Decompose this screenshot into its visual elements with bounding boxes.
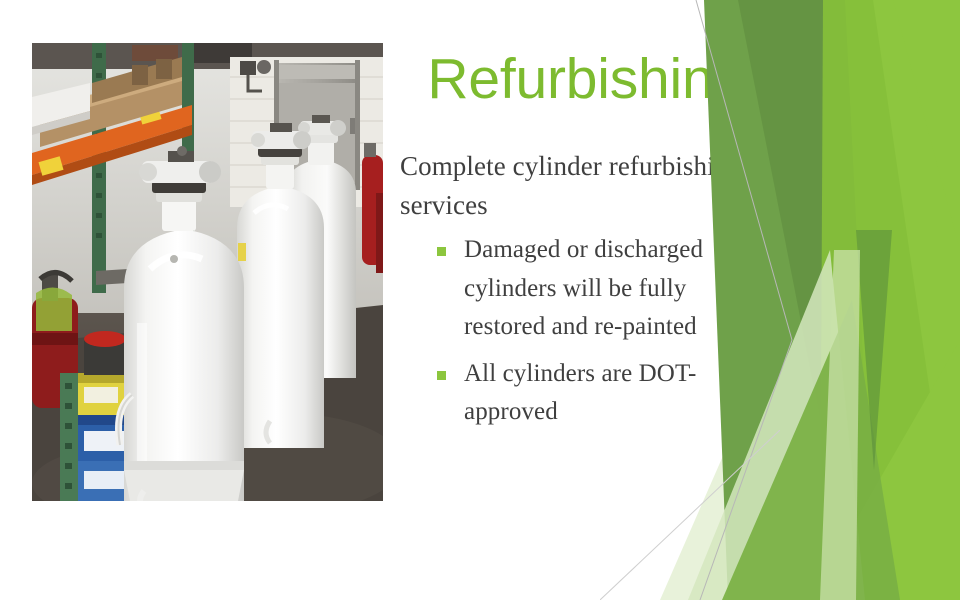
bright-top-right — [893, 0, 960, 250]
photo-artwork — [32, 43, 383, 501]
body-level1-line: Complete cylinder refurbishing services — [400, 147, 760, 225]
bright-green-wedge — [820, 0, 960, 600]
slide-body: Complete cylinder refurbishing services … — [400, 147, 760, 440]
pale-highlight-sliver — [820, 250, 860, 600]
dark-sliver — [856, 230, 892, 470]
bright-green-band — [845, 0, 960, 600]
cylinder-photo — [32, 43, 383, 501]
square-bullet-icon — [437, 247, 446, 256]
hairline-extension — [600, 430, 780, 600]
body-level2-list: Damaged or discharged cylinders will be … — [400, 231, 760, 432]
list-item-label: All cylinders are DOT-approved — [464, 360, 696, 426]
list-item: Damaged or discharged cylinders will be … — [428, 231, 760, 347]
list-item-label: Damaged or discharged cylinders will be … — [464, 236, 703, 340]
slide-title: Refurbishing — [400, 47, 745, 111]
slide: Refurbishing Complete cylinder refurbish… — [0, 0, 960, 600]
list-item: All cylinders are DOT-approved — [428, 355, 760, 432]
dark-green-triangle — [738, 0, 895, 470]
square-bullet-icon — [437, 371, 446, 380]
mid-green-lower-wedge — [810, 340, 960, 600]
